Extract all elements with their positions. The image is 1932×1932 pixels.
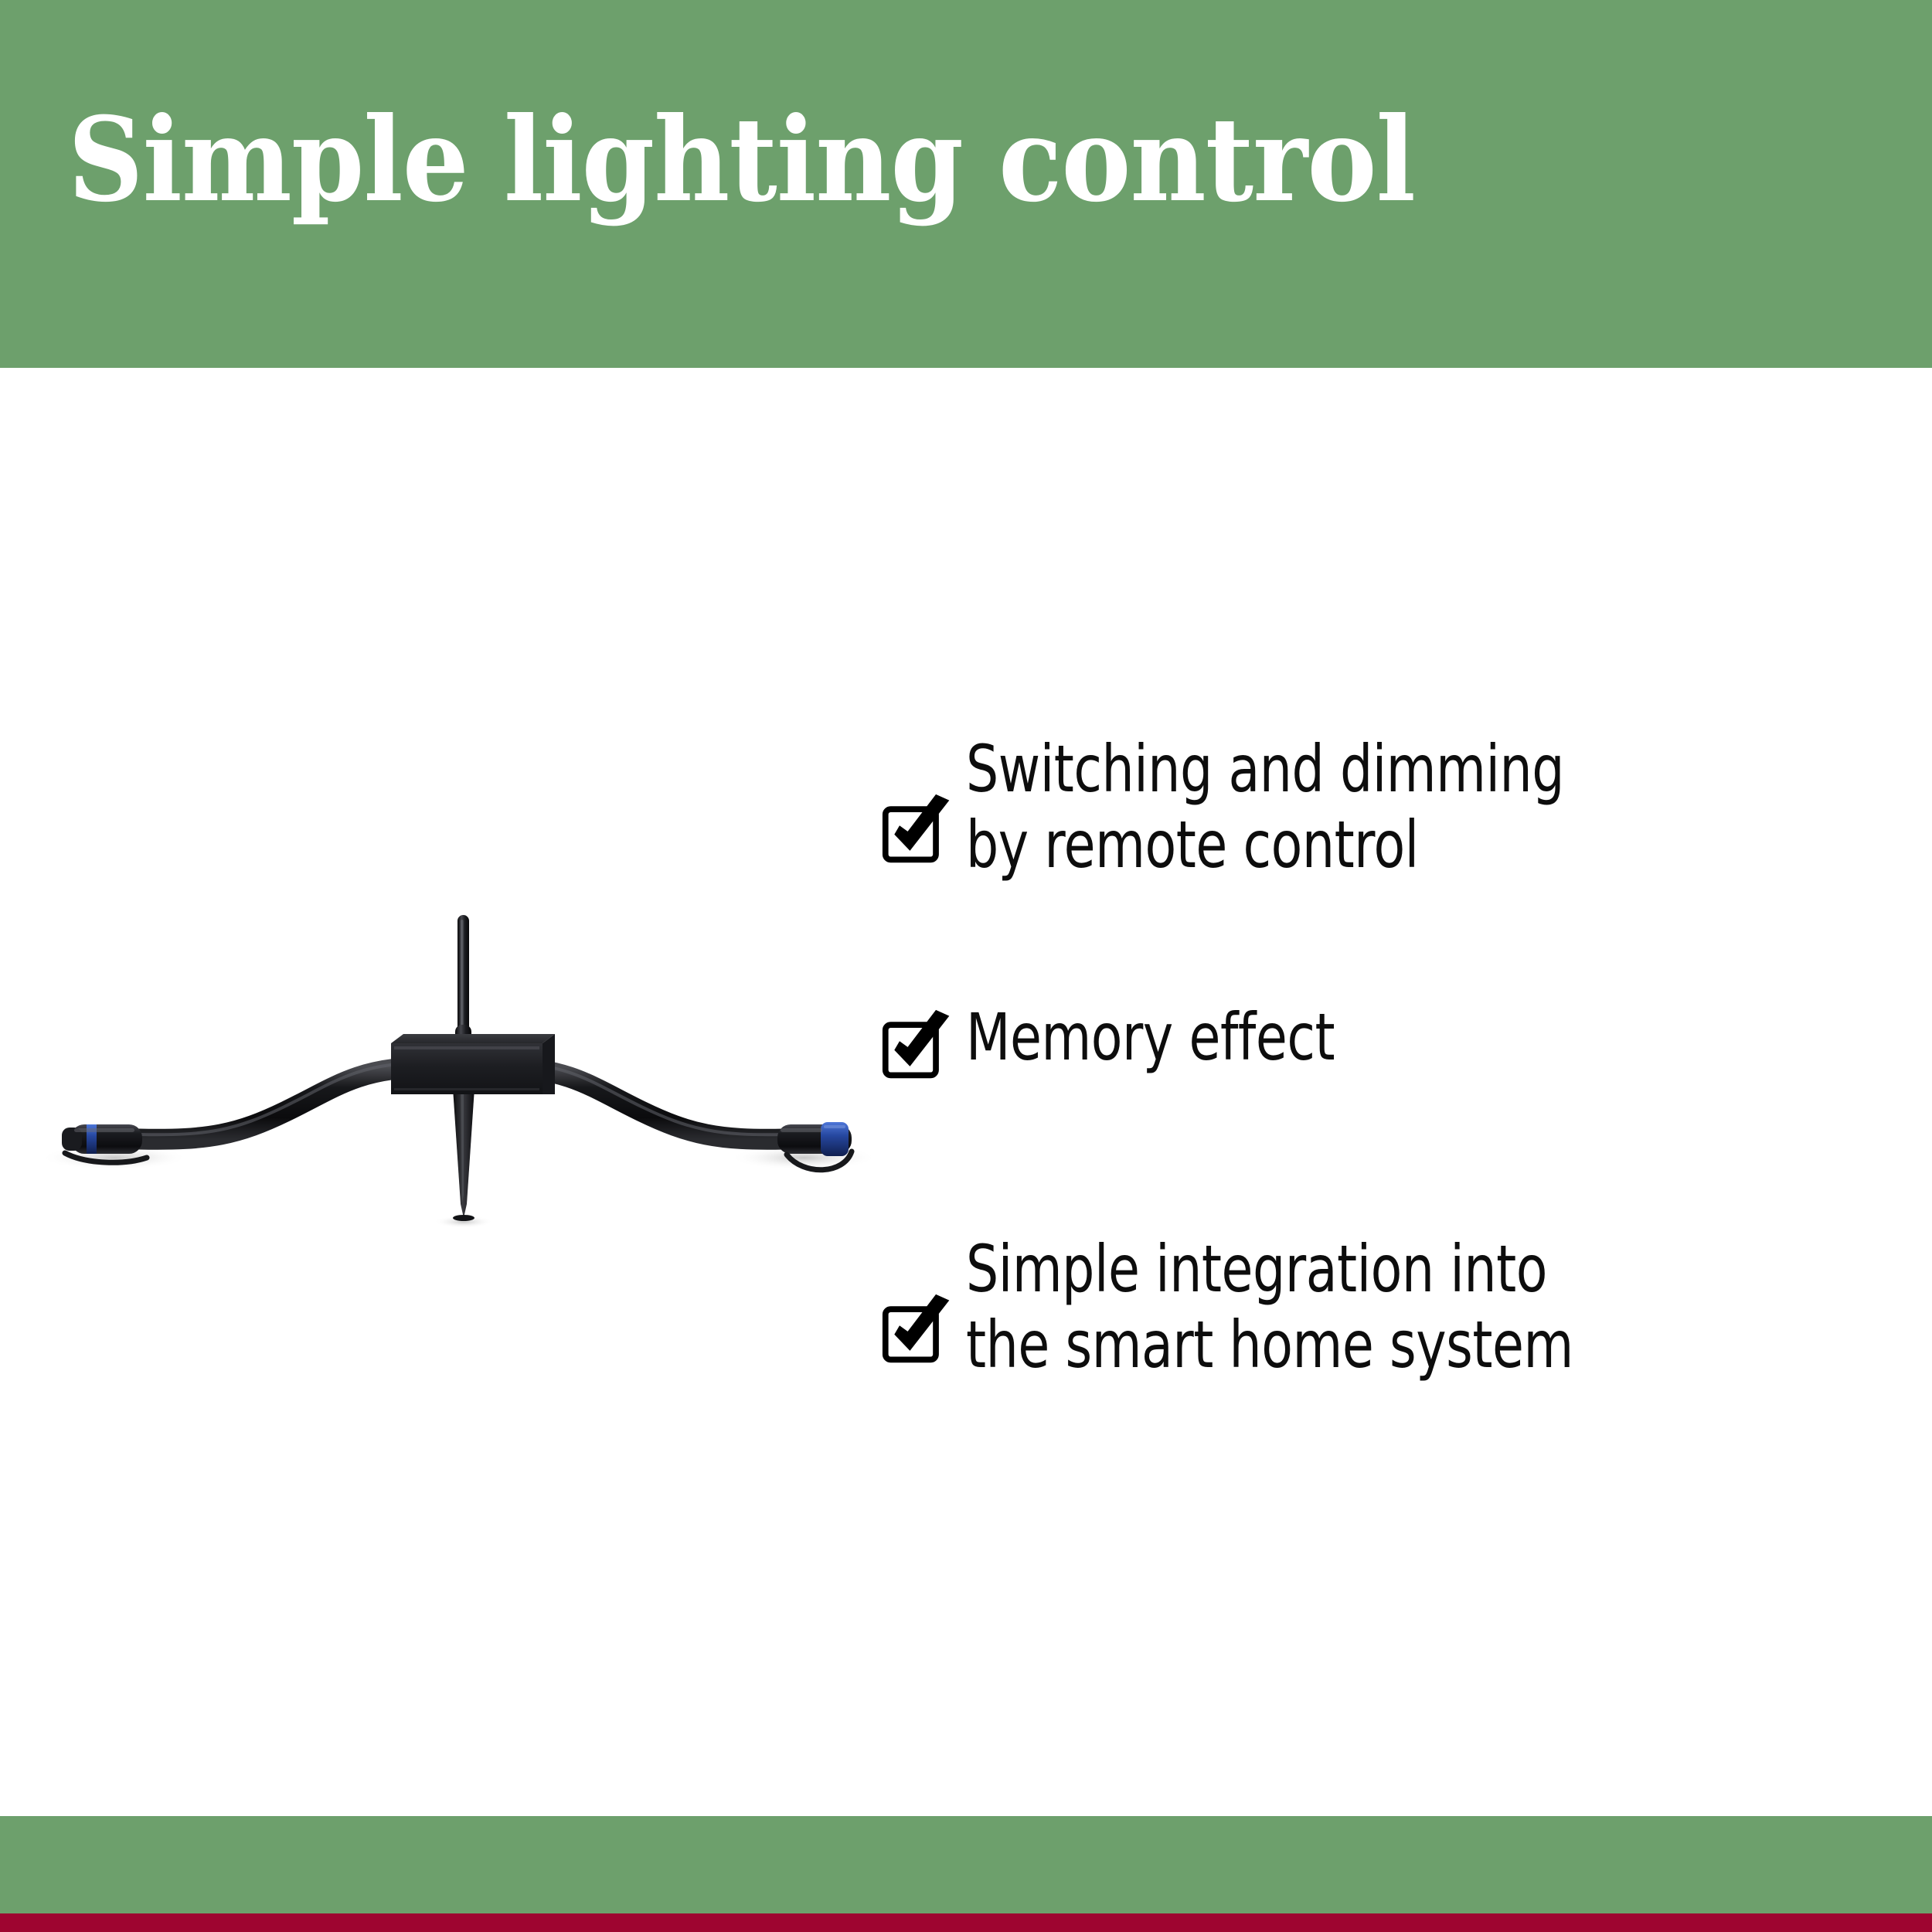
feature-item-smart-home-integration: Simple integration into the smart home s…	[881, 1231, 1901, 1383]
header-band: Simple lighting control	[0, 0, 1932, 368]
feature-item-label: Switching and dimming by remote control	[966, 731, 1789, 883]
footer-green-band	[0, 1816, 1932, 1913]
footer-red-band	[0, 1913, 1932, 1932]
feature-item-label: Memory effect	[966, 999, 1789, 1075]
content-stage: Switching and dimming by remote control …	[0, 368, 1932, 1816]
feature-list: Switching and dimming by remote control …	[881, 731, 1901, 1383]
controller-box	[391, 1034, 555, 1094]
feature-item-memory-effect: Memory effect	[881, 999, 1901, 1115]
cable-left	[139, 1067, 417, 1139]
page-title: Simple lighting control	[68, 102, 1415, 218]
checked-checkbox-icon	[881, 793, 955, 867]
feature-item-switching-dimming: Switching and dimming by remote control	[881, 731, 1901, 883]
ground-spike	[453, 1088, 474, 1221]
feature-item-label: Simple integration into the smart home s…	[966, 1231, 1789, 1383]
checked-checkbox-icon	[881, 1293, 955, 1367]
product-image	[31, 909, 896, 1272]
checked-checkbox-icon	[881, 1009, 955, 1083]
